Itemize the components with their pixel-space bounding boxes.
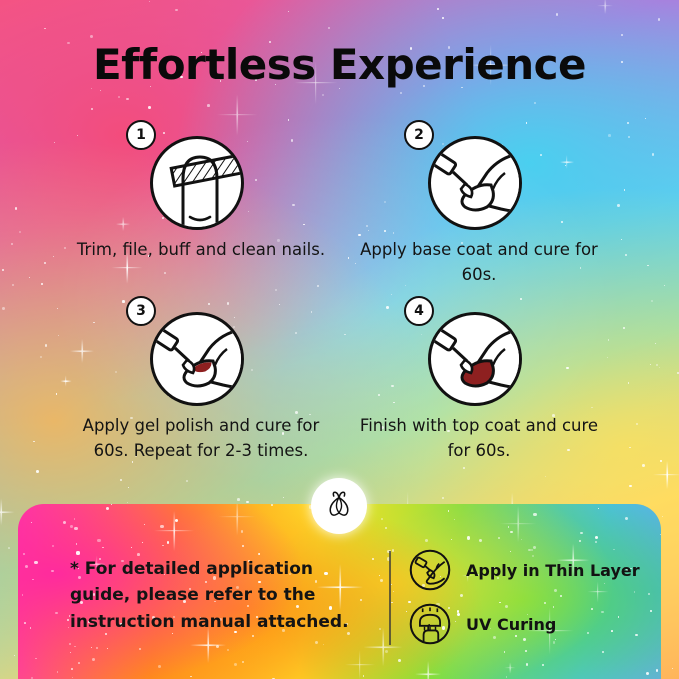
step-3-caption: Apply gel polish and cure for 60s. Repea…	[76, 414, 326, 464]
step-4-circle	[428, 312, 522, 406]
feature-thin-layer-label: Apply in Thin Layer	[466, 561, 640, 580]
step-1-caption: Trim, file, buff and clean nails.	[76, 238, 326, 263]
footer-divider	[389, 551, 391, 645]
promo-poster: Effortless Experience	[0, 0, 679, 679]
step-3-circle	[150, 312, 244, 406]
feature-list: Apply in Thin Layer UV Curing	[408, 546, 640, 654]
brand-badge	[311, 478, 367, 534]
step-3-number: 3	[126, 296, 156, 326]
step-4-caption: Finish with top coat and cure for 60s.	[354, 414, 604, 464]
step-3-illustration: 3	[126, 296, 276, 408]
step-2-number: 2	[404, 120, 434, 150]
top-coat-brush-icon	[431, 315, 522, 406]
page-title: Effortless Experience	[0, 40, 679, 89]
step-4-illustration: 4	[404, 296, 554, 408]
feature-thin-layer: Apply in Thin Layer	[408, 546, 640, 594]
footer-note: * For detailed application guide, please…	[70, 556, 370, 635]
step-1-circle	[150, 136, 244, 230]
step-1-number: 1	[126, 120, 156, 150]
gel-polish-brush-icon	[153, 315, 244, 406]
step-2: 2 Apply base coat and cure for 60s.	[340, 120, 618, 296]
base-coat-brush-icon	[431, 139, 522, 230]
uv-lamp-icon	[408, 602, 452, 646]
brand-loops-logo-icon	[322, 489, 356, 523]
nail-file-icon	[153, 139, 244, 230]
feature-uv-curing-label: UV Curing	[466, 615, 556, 634]
step-1-illustration: 1	[126, 120, 276, 232]
step-2-caption: Apply base coat and cure for 60s.	[354, 238, 604, 288]
feature-uv-curing: UV Curing	[408, 600, 640, 648]
step-1: 1 Trim, file, buff and clean nails.	[62, 120, 340, 296]
steps-grid: 1 Trim, file, buff and clean nails.	[62, 120, 618, 472]
step-4: 4 Finish with top coat and cure for 60s.	[340, 296, 618, 472]
step-2-illustration: 2	[404, 120, 554, 232]
step-3: 3 Apply gel polish and cure for 60s. Rep…	[62, 296, 340, 472]
step-4-number: 4	[404, 296, 434, 326]
thin-layer-icon	[408, 548, 452, 592]
step-2-circle	[428, 136, 522, 230]
